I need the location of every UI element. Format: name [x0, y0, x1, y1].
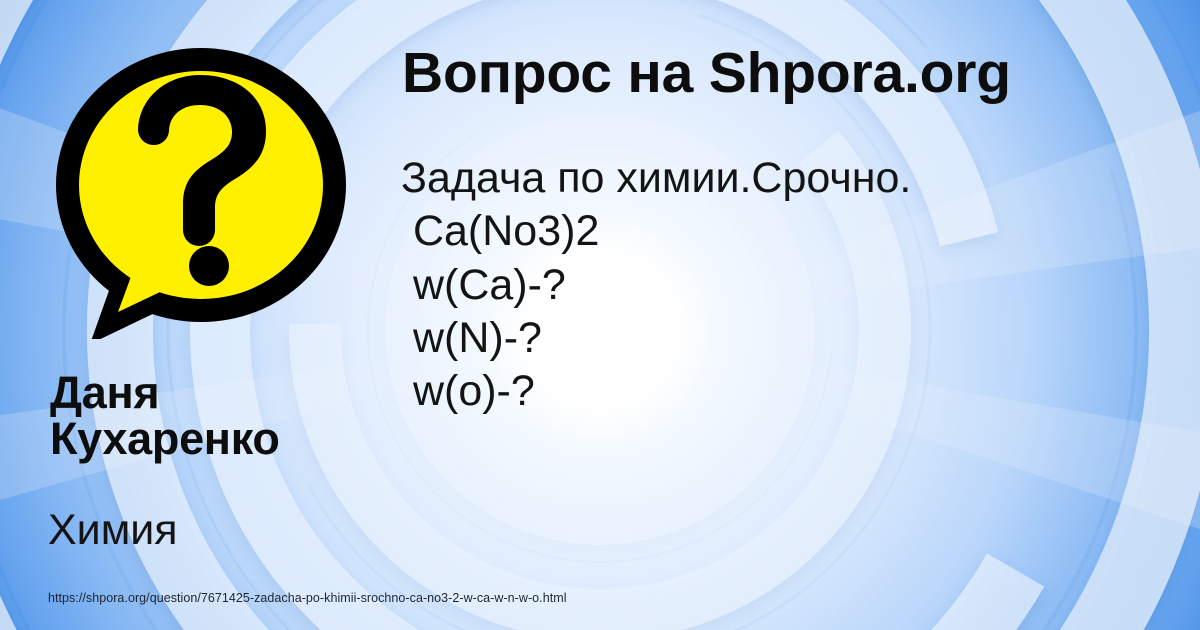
page-title: Вопрос на Shpora.org	[402, 44, 1011, 104]
question-speech-bubble-icon	[50, 44, 350, 339]
question-text: Задача по химии.Срочно. Ca(No3)2 w(Ca)-?…	[401, 152, 1101, 419]
subject-label: Химия	[48, 505, 178, 557]
author-name: Даня Кухаренко	[50, 370, 400, 462]
question-share-card: Вопрос на Shpora.org Задача по химии.Сро…	[0, 0, 1200, 630]
source-url: https://shpora.org/question/7671425-zada…	[48, 591, 567, 605]
